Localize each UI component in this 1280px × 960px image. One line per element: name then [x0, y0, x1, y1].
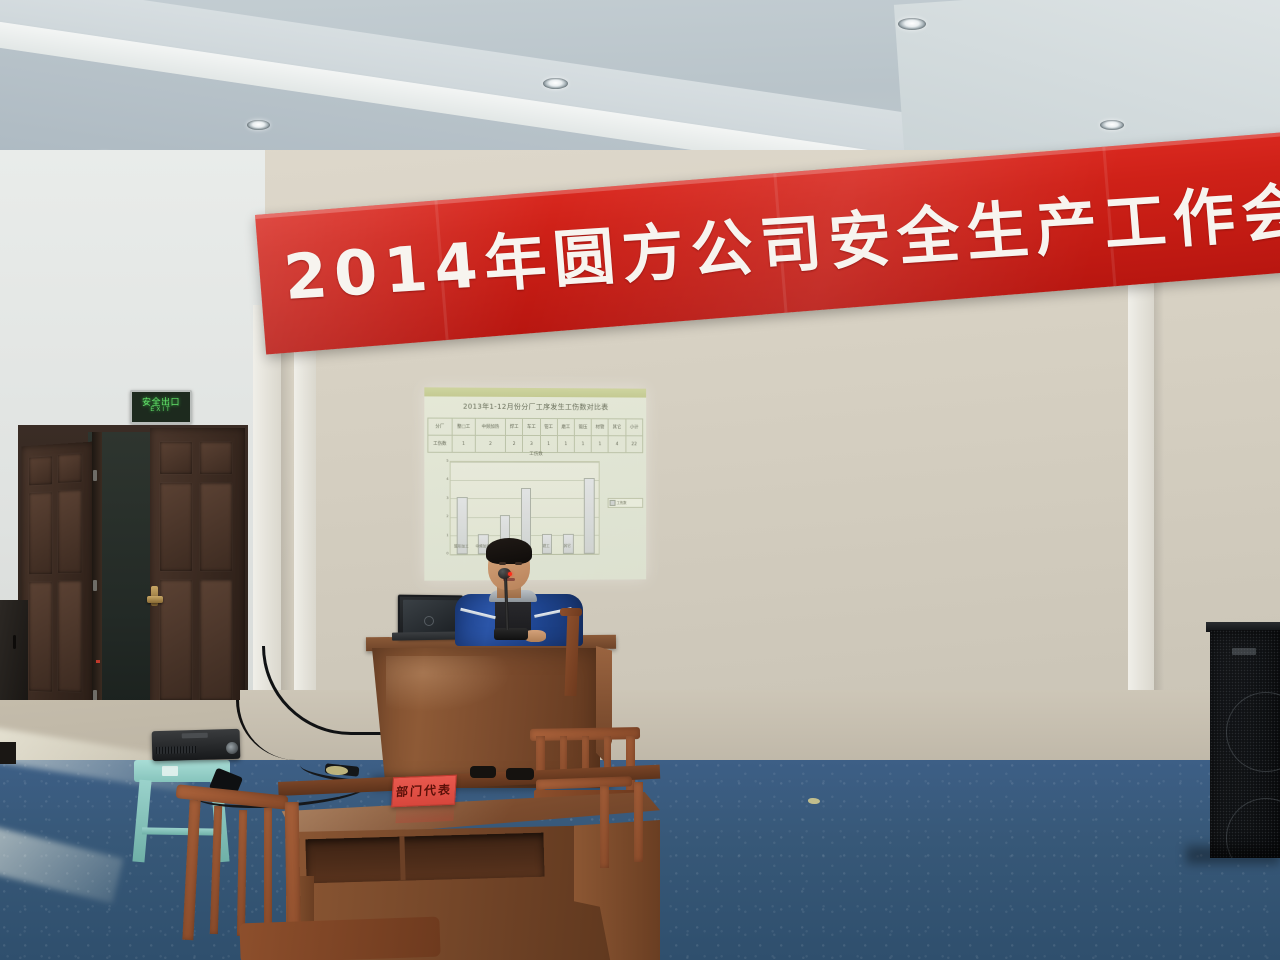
floor-debris: [808, 798, 820, 804]
projected-slide: 2013年1-12月份分厂工序发生工伤数对比表 分厂 整□工 中频加热 焊工 车…: [424, 387, 646, 580]
ceiling-downlight: [247, 120, 270, 130]
chair-foreground-seat: [239, 917, 440, 960]
slide-bar-chart: 工伤数 012345 工伤数 整形加工中频加热焊工车工钳工其它: [427, 450, 643, 579]
presenter-shoes: [506, 768, 534, 780]
chair-right-leg: [600, 786, 609, 868]
stool-brace: [142, 827, 220, 835]
chair-back-stage-top: [560, 608, 582, 616]
legend-swatch: [610, 500, 616, 506]
microphone-base: [494, 628, 528, 640]
desk-modesty-shelf: [305, 833, 544, 884]
ceiling-downlight: [543, 78, 568, 89]
microphone-led: [508, 572, 512, 576]
chart-y-tick: 3: [434, 496, 450, 500]
presenter-hair: [486, 538, 532, 564]
exit-sign-english: EXIT: [132, 407, 190, 413]
door-leaf-right[interactable]: [150, 428, 245, 728]
door-hinge: [93, 580, 97, 591]
slide-top-band: [424, 387, 646, 397]
chart-gridline: [451, 461, 599, 462]
chart-x-tick: 整形加工: [451, 544, 472, 549]
presenter-eye: [499, 562, 506, 565]
speaker-badge: [1232, 648, 1256, 655]
table-header-cell: 磨工: [557, 419, 574, 436]
ceiling-downlight: [1100, 120, 1124, 130]
floor-debris: [326, 766, 348, 775]
chart-y-tick: 5: [434, 459, 450, 463]
legend-label: 工伤数: [617, 501, 627, 505]
projector-lens: [226, 742, 238, 754]
door-hinge: [93, 470, 97, 481]
slide-title: 2013年1-12月份分厂工序发生工伤数对比表: [424, 398, 646, 416]
door-stopper-light: [96, 660, 100, 663]
chart-x-tick: 钳工: [536, 544, 557, 549]
table-header-row: 分厂 整□工 中频加热 焊工 车工 钳工 磨工 锻压 材管 其它 小计: [428, 418, 643, 436]
projector-vent: [156, 746, 196, 754]
table-header-cell: 钳工: [540, 419, 557, 436]
door-leaf-left[interactable]: [22, 442, 94, 739]
chart-title: 工伤数: [427, 451, 643, 457]
speaker-shadow: [1186, 846, 1280, 864]
podium-highlight: [386, 656, 511, 712]
pa-speaker: [1210, 630, 1280, 858]
meeting-hall-photo: 2014年圆方公司安全生产工作会议 2013年1-12月份分厂工序发生工伤数对比…: [0, 0, 1280, 960]
chair-right-leg: [634, 782, 643, 862]
equipment-case: [0, 742, 16, 764]
laptop-logo: [424, 616, 434, 626]
stool-label: [162, 766, 178, 776]
door-handle[interactable]: [147, 596, 163, 603]
chart-y-tick: 4: [434, 477, 450, 481]
pilaster-shadow: [1154, 215, 1164, 725]
table-header-cell: 材管: [591, 419, 608, 436]
wall-pilaster: [1128, 215, 1154, 725]
cabinet-handle-slot: [13, 635, 16, 649]
slide-data-table: 分厂 整□工 中频加热 焊工 车工 钳工 磨工 锻压 材管 其它 小计 工伤数 …: [427, 418, 643, 454]
ceiling-downlight: [898, 18, 926, 30]
presenter-eye: [515, 562, 522, 565]
table-header-cell: 锻压: [574, 419, 591, 436]
table-header-cell: 其它: [609, 419, 626, 436]
table-header-cell: 小计: [626, 419, 643, 436]
name-card-text: 部门代表: [392, 776, 456, 807]
name-card-reflection: [395, 803, 454, 823]
chart-y-tick: 0: [434, 551, 450, 555]
chair-foreground-slat: [264, 808, 272, 938]
chart-x-tick: 其它: [557, 544, 578, 549]
emergency-exit-sign: 安全出口 EXIT: [130, 390, 192, 424]
table-header-cell: 中频加热: [475, 418, 505, 435]
projector: [152, 729, 241, 761]
chart-gridline: [451, 480, 599, 481]
chart-y-tick: 2: [434, 514, 450, 518]
table-header-cell: 整□工: [452, 418, 475, 435]
table-header-cell: 焊工: [506, 418, 523, 435]
table-header-cell: 分厂: [428, 418, 452, 435]
table-header-cell: 车工: [523, 418, 540, 435]
chart-y-tick: 1: [434, 533, 450, 537]
chart-legend: 工伤数: [608, 498, 644, 508]
projector-buttons[interactable]: [182, 733, 208, 739]
presenter-shoes: [470, 766, 496, 778]
chart-bar: [584, 478, 594, 553]
